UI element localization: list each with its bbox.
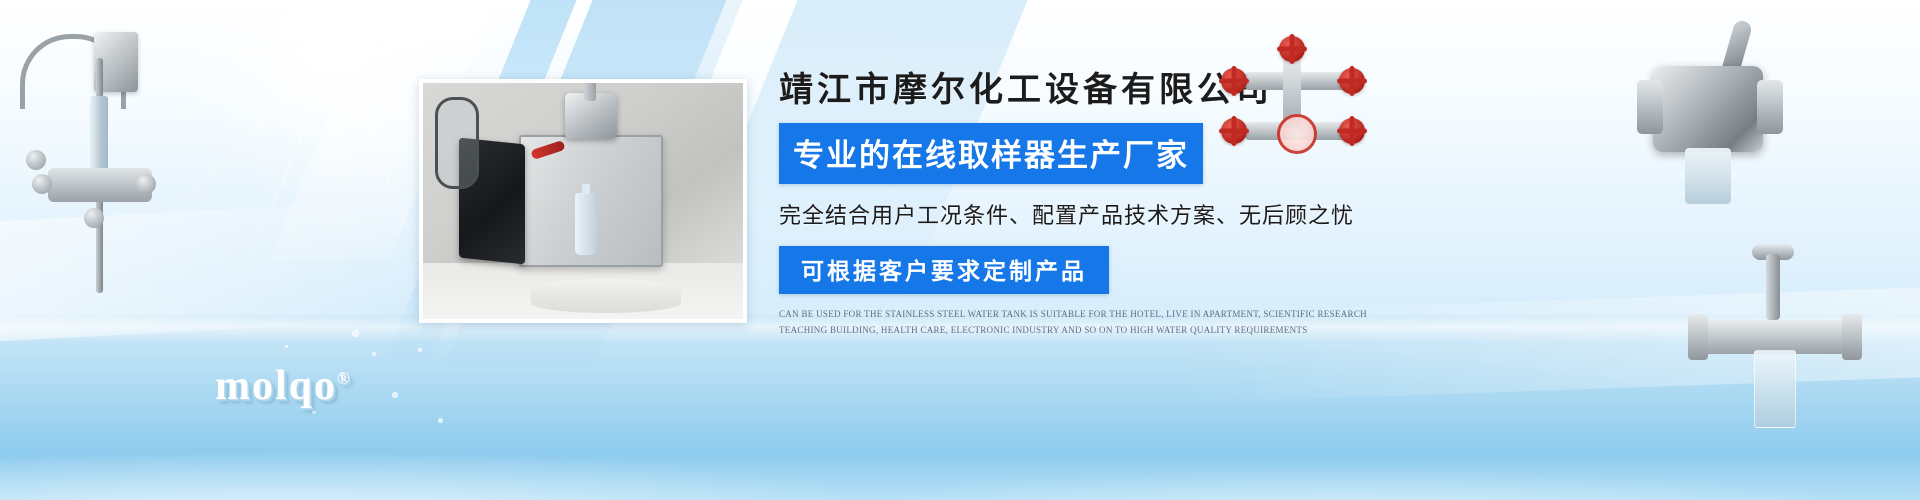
headline-band: 专业的在线取样器生产厂家 bbox=[779, 123, 1203, 184]
sampling-probe-assembly-icon bbox=[10, 18, 180, 318]
subtitle-line: 完全结合用户工况条件、配置产品技术方案、无后顾之忧 bbox=[779, 198, 1399, 230]
lever-ball-valve-icon bbox=[1635, 22, 1785, 212]
christmas-tree-valve-icon bbox=[1215, 38, 1375, 158]
brand-watermark: molqo® bbox=[215, 362, 352, 410]
registered-mark-icon: ® bbox=[337, 369, 352, 388]
promo-banner: 靖江市摩尔化工设备有限公司 专业的在线取样器生产厂家 完全结合用户工况条件、配置… bbox=[0, 0, 1920, 500]
sight-glass-valve-icon bbox=[1690, 250, 1870, 440]
product-photo bbox=[419, 79, 747, 323]
watermark-text: molqo bbox=[215, 363, 337, 409]
english-paragraph: CAN BE USED FOR THE STAINLESS STEEL WATE… bbox=[779, 307, 1379, 339]
secondary-band: 可根据客户要求定制产品 bbox=[779, 246, 1109, 294]
